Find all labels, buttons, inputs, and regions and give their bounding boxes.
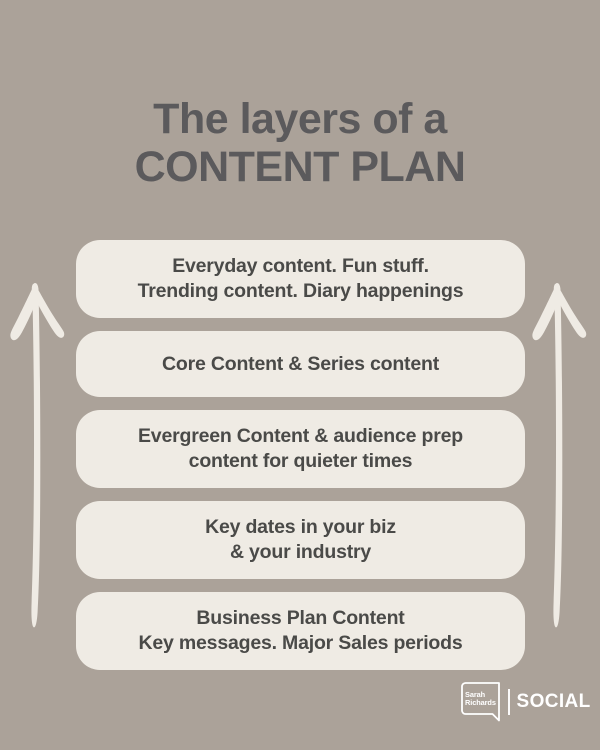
layer-card-core-content[interactable]: Core Content & Series content: [76, 331, 525, 397]
speech-bubble-icon: Sarah Richards: [459, 682, 506, 723]
title-line-2: CONTENT PLAN: [0, 144, 600, 190]
layer-line: Evergreen Content & audience prep: [138, 424, 463, 449]
right-upward-arrow-icon: [530, 282, 588, 642]
brand-name: Sarah Richards: [465, 691, 501, 708]
layer-line: Key dates in your biz: [205, 515, 396, 540]
page-title: The layers of a CONTENT PLAN: [0, 96, 600, 191]
layer-line: Business Plan Content: [139, 606, 463, 631]
layer-card-business-plan-content[interactable]: Business Plan Content Key messages. Majo…: [76, 592, 525, 670]
content-plan-layers: Everyday content. Fun stuff. Trending co…: [76, 240, 525, 683]
layer-line: & your industry: [205, 540, 396, 565]
layer-line: Core Content & Series content: [162, 352, 439, 377]
layer-card-everyday-content[interactable]: Everyday content. Fun stuff. Trending co…: [76, 240, 525, 318]
layer-line: content for quieter times: [138, 449, 463, 474]
layer-line: Everyday content. Fun stuff.: [138, 254, 464, 279]
brand-logo: Sarah Richards SOCIAL: [459, 676, 591, 728]
layer-line: Trending content. Diary happenings: [138, 279, 464, 304]
left-upward-arrow-icon: [8, 282, 66, 642]
title-line-1: The layers of a: [0, 96, 600, 142]
brand-name-line-2: Richards: [465, 699, 501, 708]
layer-line: Key messages. Major Sales periods: [139, 631, 463, 656]
logo-word-social: SOCIAL: [517, 691, 591, 713]
logo-divider: [508, 689, 510, 715]
layer-card-evergreen-content[interactable]: Evergreen Content & audience prep conten…: [76, 410, 525, 488]
layer-card-key-dates[interactable]: Key dates in your biz & your industry: [76, 501, 525, 579]
poster-canvas: The layers of a CONTENT PLAN Everyday co…: [0, 0, 600, 750]
